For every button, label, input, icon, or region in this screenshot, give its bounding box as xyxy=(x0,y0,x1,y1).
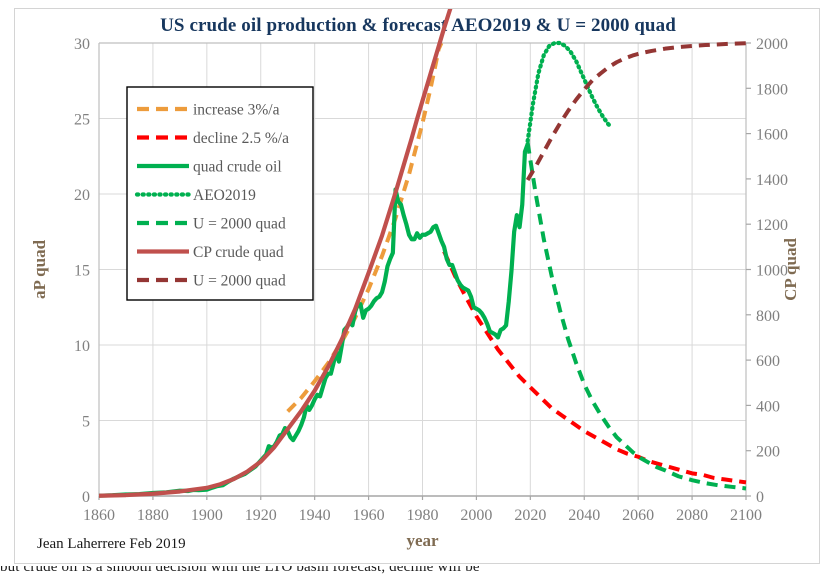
x-axis-tick-label: 1940 xyxy=(299,507,331,524)
series-line-decline-2-5-a xyxy=(444,251,746,482)
legend-label-4: U = 2000 quad xyxy=(193,216,286,233)
legend-label-1: decline 2.5 %/a xyxy=(193,130,289,147)
x-axis-tick-label: 1920 xyxy=(245,507,277,524)
y2-axis-tick-label: 800 xyxy=(756,308,780,325)
y2-axis-tick-label: 1600 xyxy=(756,127,788,144)
y-axis-tick-label: 0 xyxy=(82,489,90,506)
y-axis-tick-label: 25 xyxy=(74,112,90,129)
x-axis-tick-label: 2040 xyxy=(568,507,600,524)
x-axis-title: year xyxy=(406,531,439,550)
attribution-label: Jean Laherrere Feb 2019 xyxy=(37,536,186,552)
x-axis-tick-label: 1980 xyxy=(407,507,439,524)
legend-label-0: increase 3%/a xyxy=(193,102,280,119)
chart-screenshot: US crude oil production & forecast AEO20… xyxy=(0,0,840,580)
legend-label-5: CP crude quad xyxy=(193,244,284,261)
y-axis-title: aP quad xyxy=(30,239,49,299)
x-axis-tick-label: 1880 xyxy=(137,507,169,524)
legend-label-3: AEO2019 xyxy=(193,187,256,204)
y-axis-tick-label: 20 xyxy=(74,187,90,204)
series-line-aeo2019 xyxy=(528,43,612,141)
y2-axis-tick-label: 400 xyxy=(756,398,780,415)
y2-axis-tick-label: 2000 xyxy=(756,36,788,53)
y2-axis-tick-label: 1800 xyxy=(756,81,788,98)
x-axis-tick-label: 2080 xyxy=(676,507,708,524)
x-axis-tick-label: 1860 xyxy=(83,507,115,524)
y2-axis-tick-label: 600 xyxy=(756,353,780,370)
y2-axis-tick-label: 1400 xyxy=(756,172,788,189)
chart-plot-area: 0510152025300200400600800100012001400160… xyxy=(15,9,821,565)
x-axis-tick-label: 2100 xyxy=(730,507,762,524)
legend-label-6: U = 2000 quad xyxy=(193,273,286,290)
series-line-u-2000-quad xyxy=(528,43,746,180)
y2-axis-tick-label: 200 xyxy=(756,444,780,461)
chart-container: US crude oil production & forecast AEO20… xyxy=(14,8,820,564)
y2-axis-tick-label: 1200 xyxy=(756,217,788,234)
y-axis-tick-label: 10 xyxy=(74,338,90,355)
y-axis-tick-label: 15 xyxy=(74,263,90,280)
y-axis-tick-label: 5 xyxy=(82,414,90,431)
legend-label-2: quad crude oil xyxy=(193,159,282,176)
x-axis-tick-label: 2000 xyxy=(460,507,492,524)
x-axis-tick-label: 2060 xyxy=(622,507,654,524)
y2-axis-tick-label: 0 xyxy=(756,489,764,506)
y2-axis-title: CP quad xyxy=(781,238,800,301)
y-axis-tick-label: 30 xyxy=(74,36,90,53)
series-line-u-2000-quad xyxy=(528,143,746,489)
x-axis-tick-label: 1960 xyxy=(353,507,385,524)
x-axis-tick-label: 1900 xyxy=(191,507,223,524)
x-axis-tick-label: 2020 xyxy=(514,507,546,524)
clipped-body-text: but crude oil is a smooth decision with … xyxy=(0,566,840,580)
